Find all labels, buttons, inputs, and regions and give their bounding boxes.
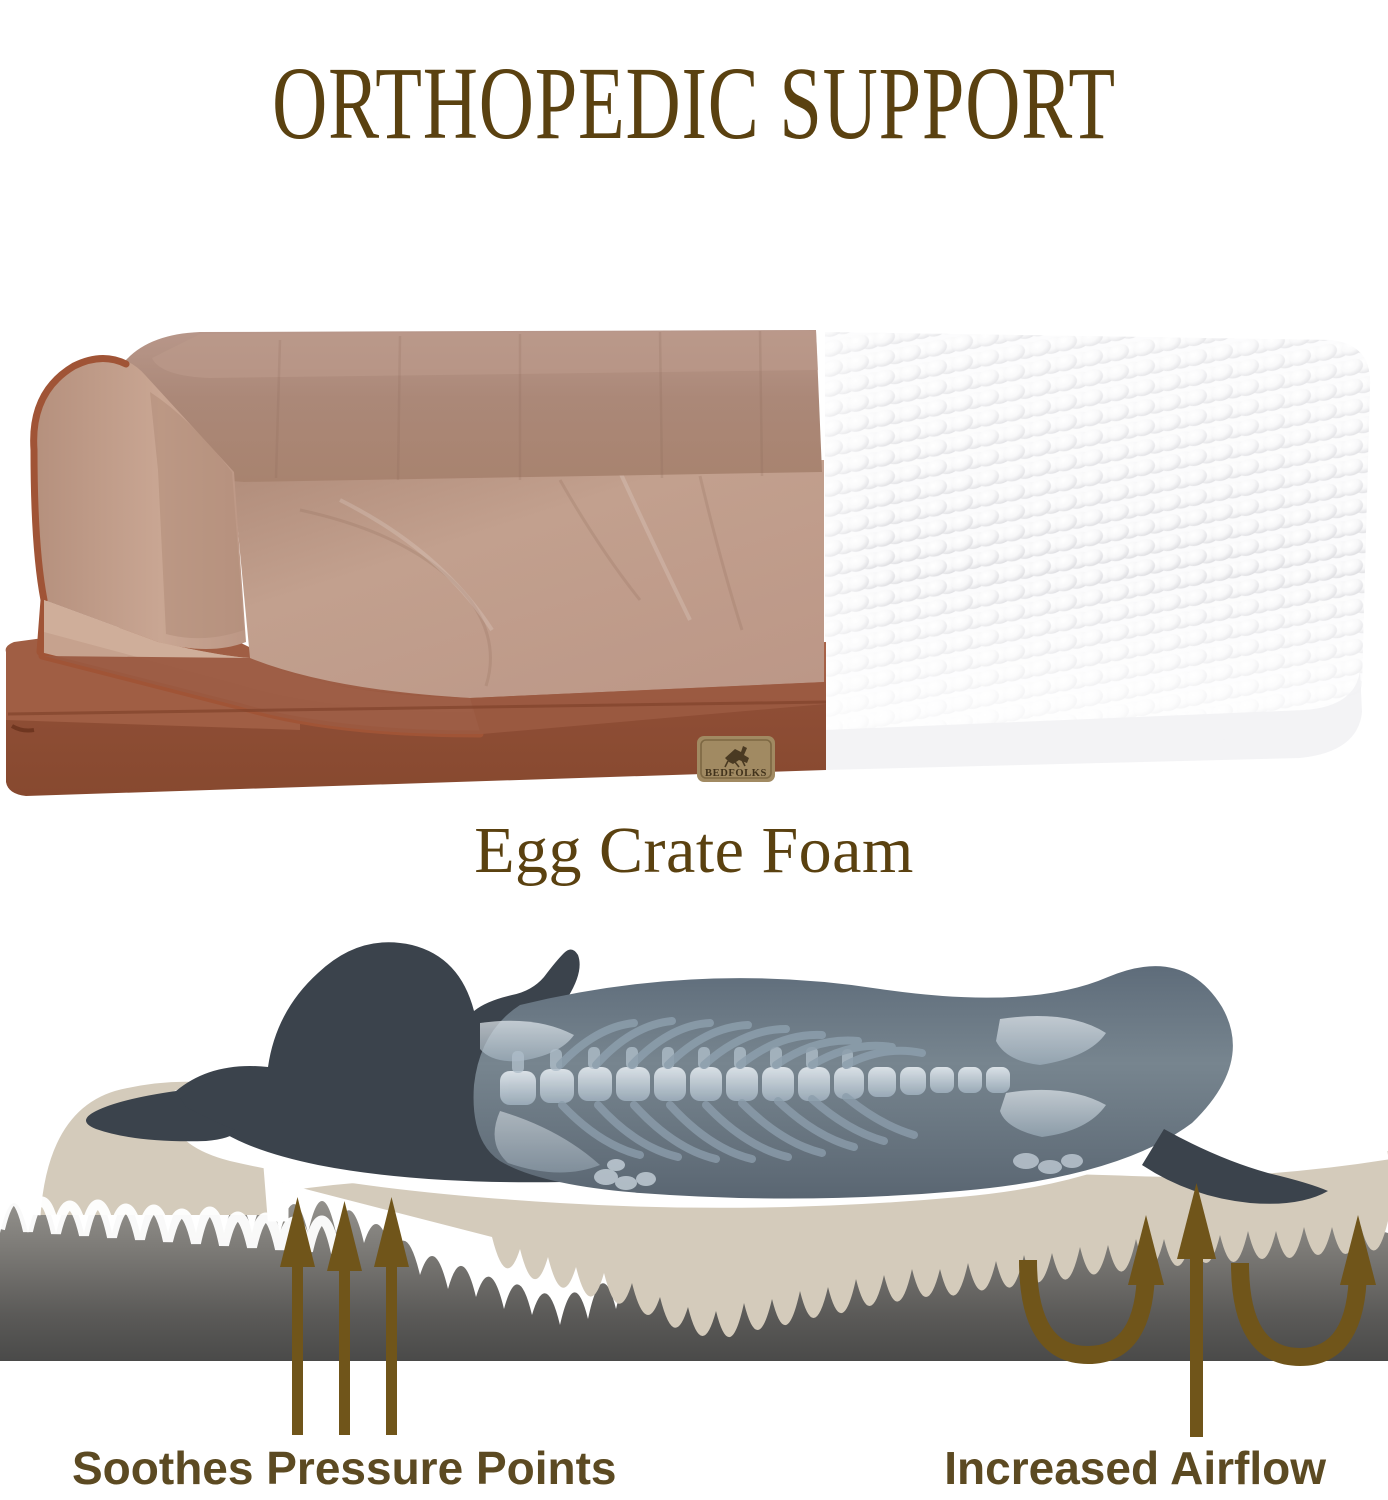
- egg-crate-foam-caption: Egg Crate Foam: [0, 818, 1388, 884]
- label-soothes-pressure-points: Soothes Pressure Points: [72, 1444, 617, 1492]
- brand-tag: BEDFOLKS: [697, 736, 775, 782]
- product-photo: BEDFOLKS: [0, 300, 1388, 810]
- dog-bed-body: [6, 330, 826, 796]
- cross-section-diagram: [0, 915, 1388, 1445]
- label-increased-airflow: Increased Airflow: [944, 1444, 1326, 1492]
- dog-body-xray: [474, 966, 1328, 1204]
- egg-crate-foam-slab: [800, 320, 1388, 780]
- page-title: ORTHOPEDIC SUPPORT: [153, 52, 1236, 156]
- pressure-relief-arrows: [280, 1197, 409, 1435]
- dog-xray-illustration: [86, 922, 1328, 1208]
- brand-tag-label: BEDFOLKS: [705, 768, 767, 779]
